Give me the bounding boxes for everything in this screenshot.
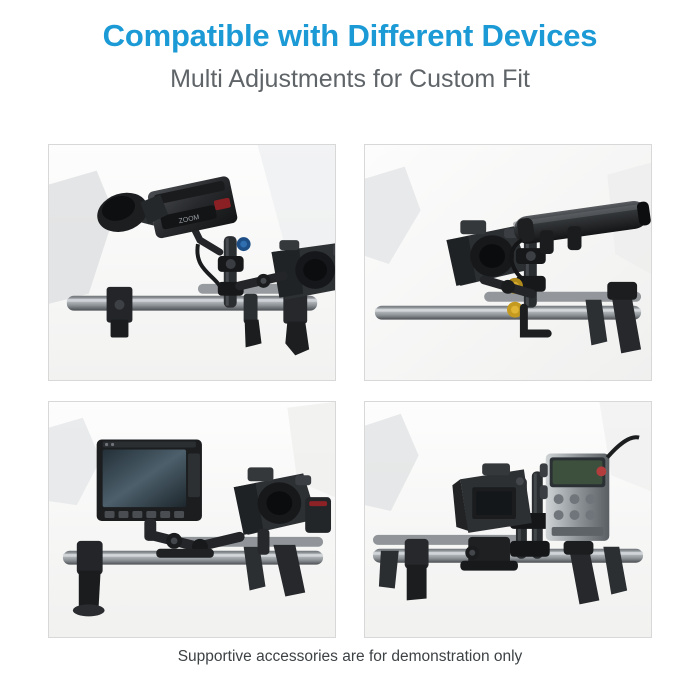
- page-subtitle: Multi Adjustments for Custom Fit: [0, 64, 700, 94]
- photo-field-monitor: [49, 402, 335, 637]
- photo-cell-shotgun-mic: [364, 144, 652, 381]
- product-feature-page: Compatible with Different Devices Multi …: [0, 0, 700, 700]
- photo-cell-viewfinder: ZOOM: [48, 144, 336, 381]
- photo-cell-audio-recorder: [364, 401, 652, 638]
- disclaimer-text: Supportive accessories are for demonstra…: [0, 648, 700, 666]
- photo-cell-field-monitor: [48, 401, 336, 638]
- photo-grid: ZOOM: [48, 144, 652, 638]
- page-title: Compatible with Different Devices: [0, 18, 700, 54]
- photo-shotgun-mic: [365, 145, 651, 380]
- page-header: Compatible with Different Devices Multi …: [0, 0, 700, 94]
- photo-viewfinder: ZOOM: [49, 145, 335, 380]
- photo-audio-recorder: [365, 402, 651, 637]
